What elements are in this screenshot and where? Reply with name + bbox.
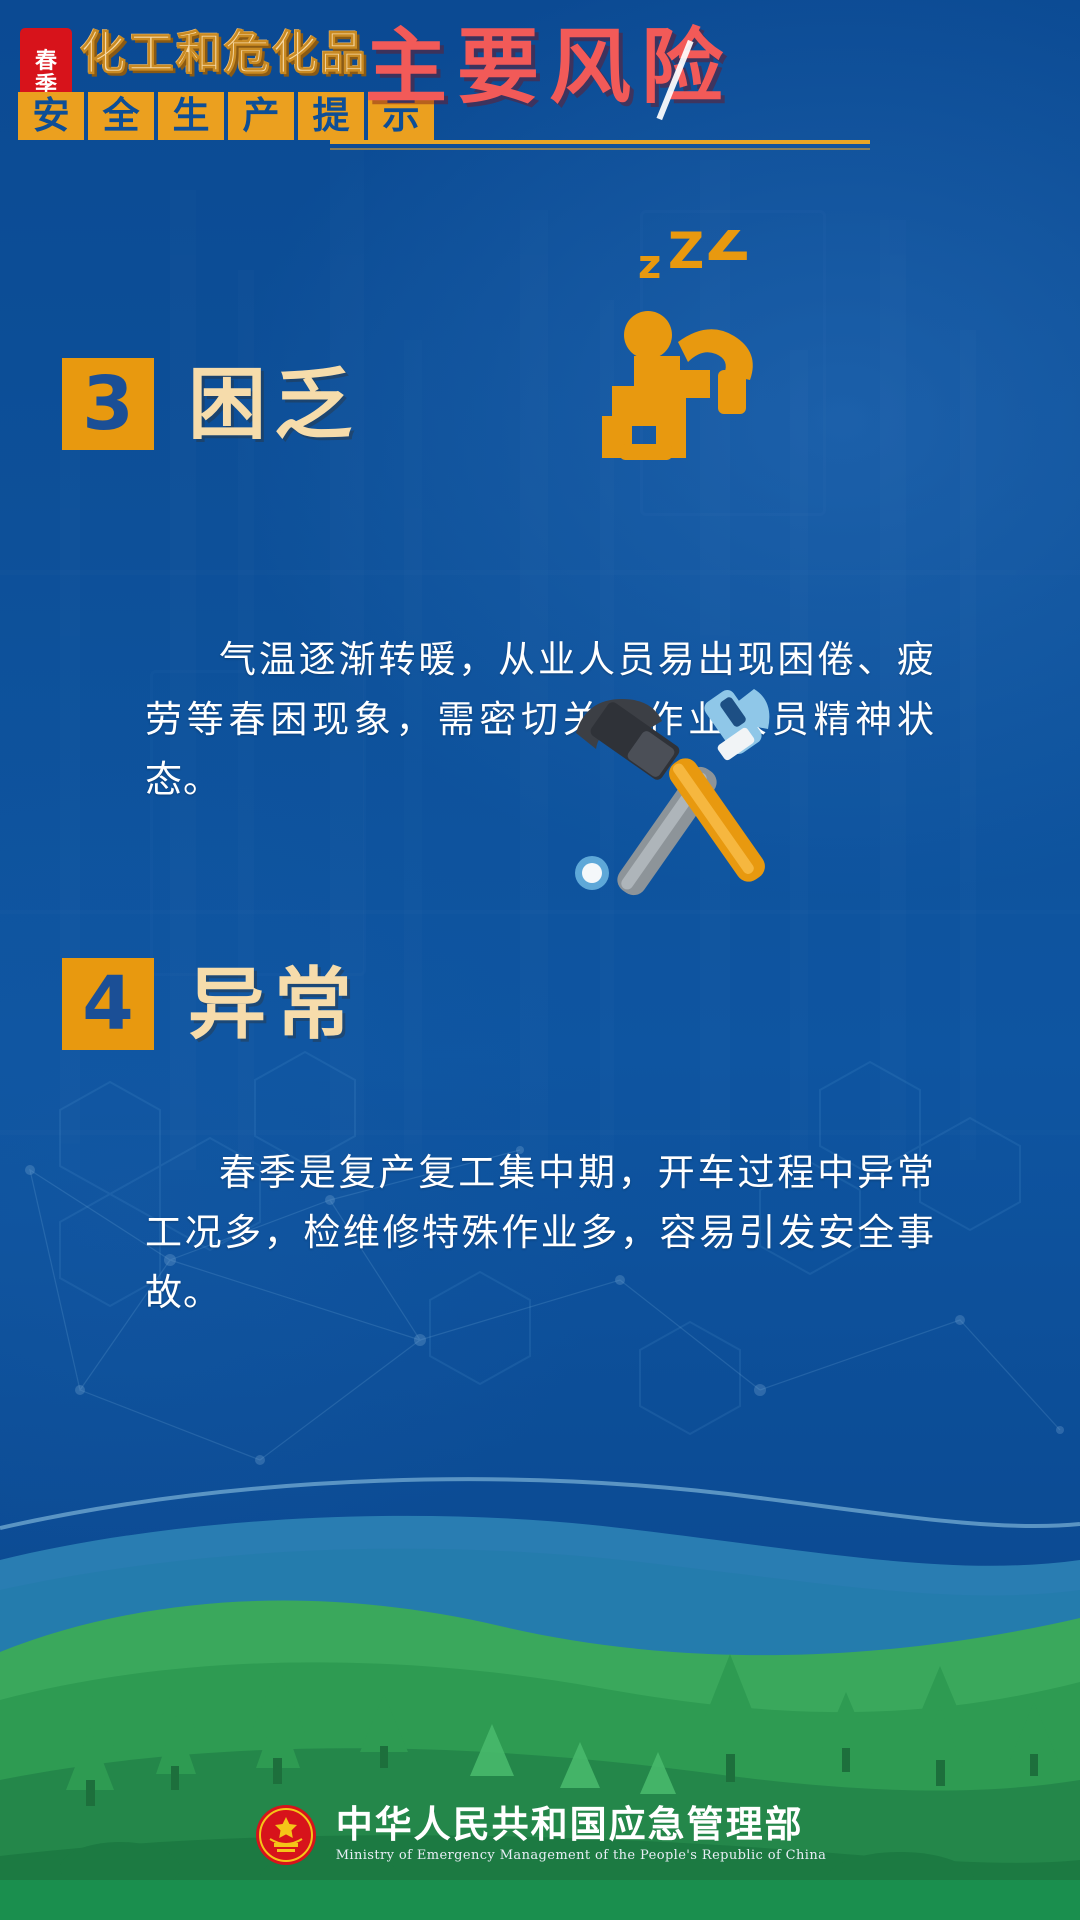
poster-root: 春 季 化工和危化品 安 全 生 产 提 示 主要风险 3 困乏 z Z <box>0 0 1080 1920</box>
hammer-wrench-icon <box>540 675 800 920</box>
brand2-char-4: 提 <box>298 92 364 140</box>
footer-scene: 中华人民共和国应急管理部 Ministry of Emergency Manag… <box>0 1260 1080 1920</box>
ministry-name-zh: 中华人民共和国应急管理部 <box>336 1804 827 1846</box>
ministry-name-en: Ministry of Emergency Management of the … <box>336 1846 827 1866</box>
poster-header: 春 季 化工和危化品 安 全 生 产 提 示 主要风险 <box>0 0 1080 165</box>
ministry-text: 中华人民共和国应急管理部 Ministry of Emergency Manag… <box>336 1804 827 1866</box>
svg-text:Z: Z <box>706 230 750 275</box>
brand-line-1: 化工和危化品 <box>80 27 368 79</box>
national-emblem-icon <box>254 1803 318 1867</box>
brand2-char-2: 生 <box>158 92 224 140</box>
brand2-char-1: 全 <box>88 92 154 140</box>
section-4-title: 异常 <box>188 960 360 1048</box>
section-3-heading: 3 困乏 <box>62 358 360 450</box>
brand2-char-3: 产 <box>228 92 294 140</box>
section-3-title: 困乏 <box>188 360 360 448</box>
svg-text:Z: Z <box>668 230 704 280</box>
section-3-number: 3 <box>62 358 154 450</box>
sleeping-person-zzz-icon: z Z Z <box>560 230 790 485</box>
brand2-char-0: 安 <box>18 92 84 140</box>
svg-text:z: z <box>638 242 661 288</box>
section-4-number: 4 <box>62 958 154 1050</box>
ministry-logo: 中华人民共和国应急管理部 Ministry of Emergency Manag… <box>0 1750 1080 1920</box>
seal-char-1: 春 <box>35 50 57 72</box>
gold-divider <box>330 140 870 144</box>
gold-divider-thin <box>330 148 870 150</box>
section-4-heading: 4 异常 <box>62 958 360 1050</box>
